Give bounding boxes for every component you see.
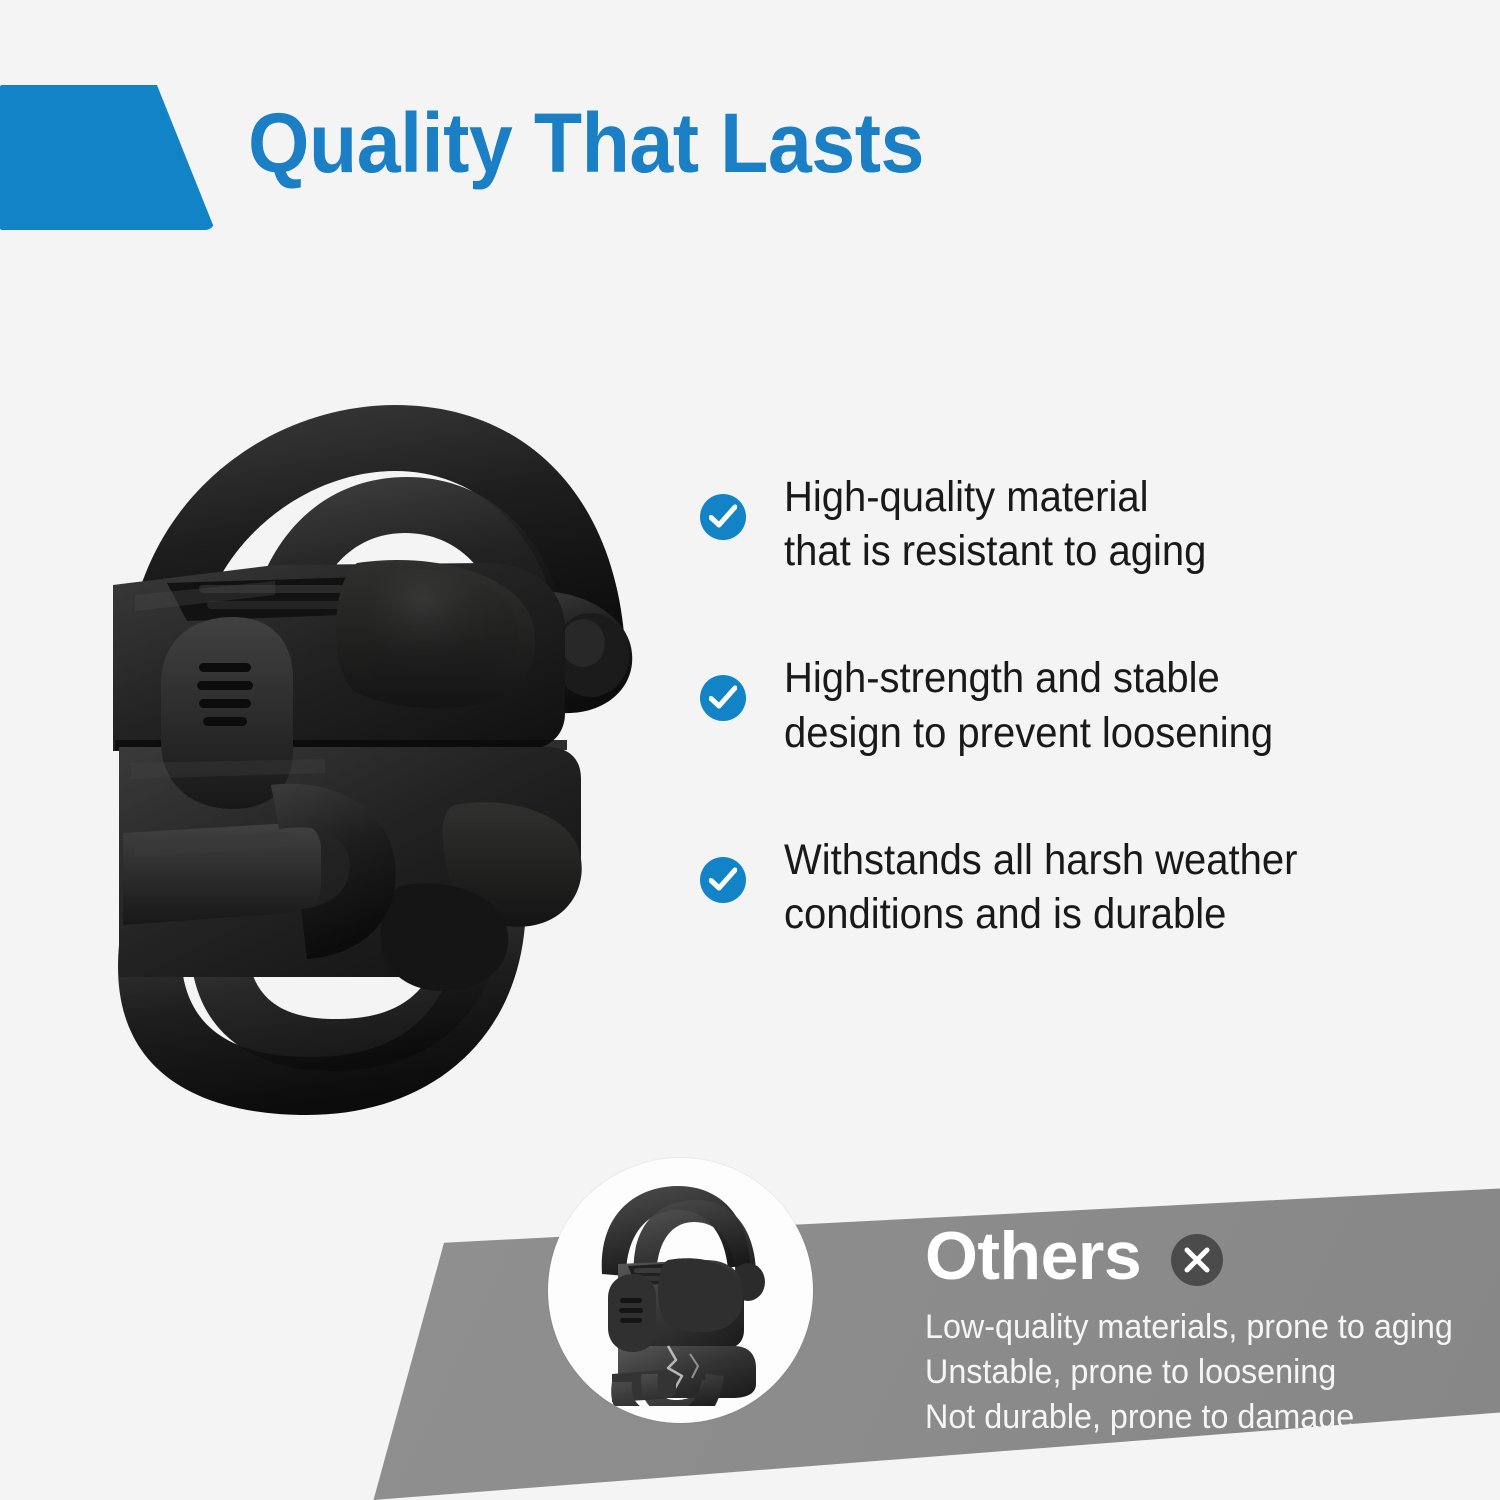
list-item: Not durable, prone to damage [925, 1395, 1453, 1440]
feature-label: Withstands all harsh weather conditions … [784, 833, 1297, 941]
check-circle-icon [700, 857, 746, 903]
blue-trapezoid-accent-icon [0, 85, 215, 230]
feature-label: High-quality material that is resistant … [784, 470, 1206, 578]
feature-list: High-quality material that is resistant … [700, 470, 1480, 941]
infographic-canvas: Quality That Lasts [0, 0, 1500, 1500]
competitor-product-image [548, 1158, 813, 1423]
list-item: Low-quality materials, prone to aging [925, 1305, 1453, 1350]
check-circle-icon [700, 675, 746, 721]
hero-product-image [95, 385, 675, 1115]
others-title: Others [925, 1222, 1141, 1290]
list-item: High-strength and stable design to preve… [700, 651, 1480, 759]
list-item: Unstable, prone to loosening [925, 1350, 1453, 1395]
others-drawback-list: Low-quality materials, prone to aging Un… [925, 1305, 1453, 1441]
others-header: Others [925, 1222, 1223, 1290]
x-circle-icon [1171, 1234, 1223, 1286]
check-circle-icon [700, 494, 746, 540]
list-item: Withstands all harsh weather conditions … [700, 833, 1480, 941]
feature-label: High-strength and stable design to preve… [784, 651, 1273, 759]
page-title: Quality That Lasts [248, 96, 924, 190]
list-item: High-quality material that is resistant … [700, 470, 1480, 578]
